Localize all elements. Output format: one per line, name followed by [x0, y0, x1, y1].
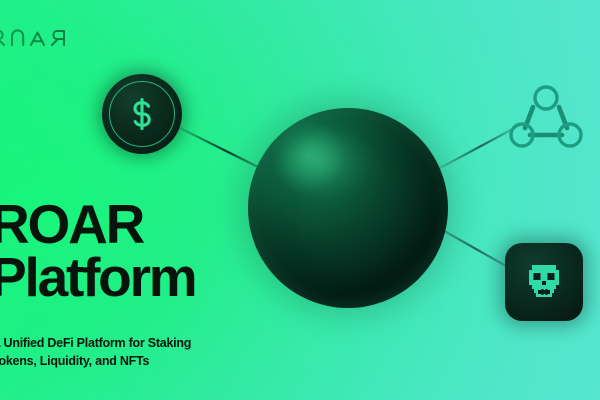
- subtitle-line-2: Tokens, Liquidity, and NFTs: [0, 352, 292, 370]
- nft-tile[interactable]: [505, 243, 583, 321]
- subtitle-line-1: A Unified DeFi Platform for Staking: [0, 334, 292, 352]
- node-nft[interactable]: [505, 243, 583, 321]
- node-staking[interactable]: [102, 74, 182, 154]
- hero-subtitle: A Unified DeFi Platform for Staking Toke…: [0, 334, 292, 370]
- roar-wordmark-icon[interactable]: [0, 26, 82, 48]
- coin-inner-ring: [109, 81, 175, 147]
- liquidity-network-icon[interactable]: [508, 78, 584, 154]
- title-line-2: Platform: [0, 251, 320, 304]
- hero-banner: ROAR Platform A Unified DeFi Platform fo…: [0, 0, 600, 400]
- hero-heading: ROAR Platform: [0, 198, 320, 304]
- dollar-coin-icon[interactable]: [102, 74, 182, 154]
- page-title: ROAR Platform: [0, 198, 320, 304]
- node-liquidity[interactable]: [508, 78, 584, 154]
- pixel-skull-nft-icon: [521, 259, 567, 305]
